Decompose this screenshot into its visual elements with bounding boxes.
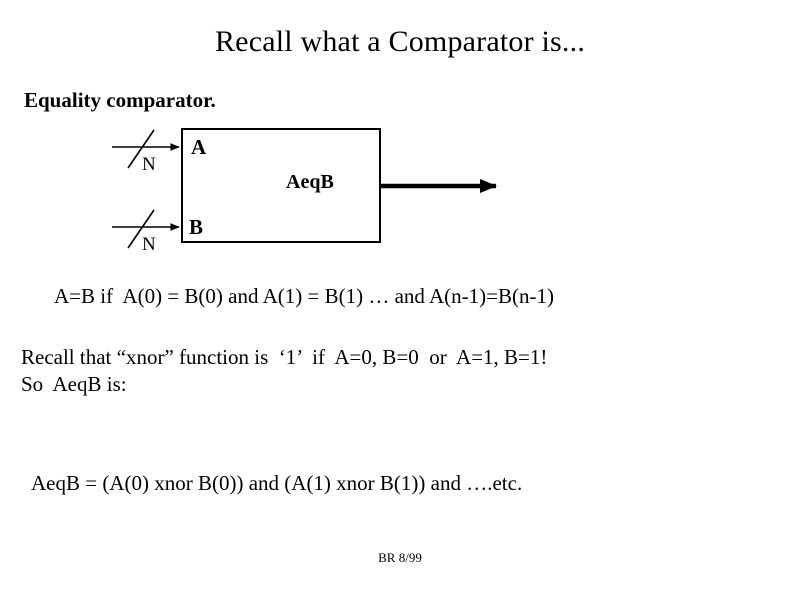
slide-canvas: Recall what a Comparator is... Equality … — [0, 0, 800, 600]
slide-footer: BR 8/99 — [0, 550, 800, 566]
output-port-label-aeqb: AeqB — [286, 172, 334, 192]
page-title: Recall what a Comparator is... — [0, 24, 800, 60]
bus-width-label-a: N — [142, 155, 156, 174]
aeqb-expression-text: AeqB = (A(0) xnor B(0)) and (A(1) xnor B… — [31, 470, 522, 497]
xnor-note-line-1: Recall that “xnor” function is ‘1’ if A=… — [21, 344, 547, 371]
xnor-note-line-2: So AeqB is: — [21, 371, 127, 398]
input-port-label-a: A — [191, 137, 206, 158]
bus-width-label-b: N — [142, 235, 156, 254]
section-subtitle: Equality comparator. — [24, 88, 216, 113]
equality-condition-text: A=B if A(0) = B(0) and A(1) = B(1) … and… — [54, 283, 554, 309]
input-port-label-b: B — [189, 217, 203, 238]
comparator-block — [181, 128, 381, 243]
